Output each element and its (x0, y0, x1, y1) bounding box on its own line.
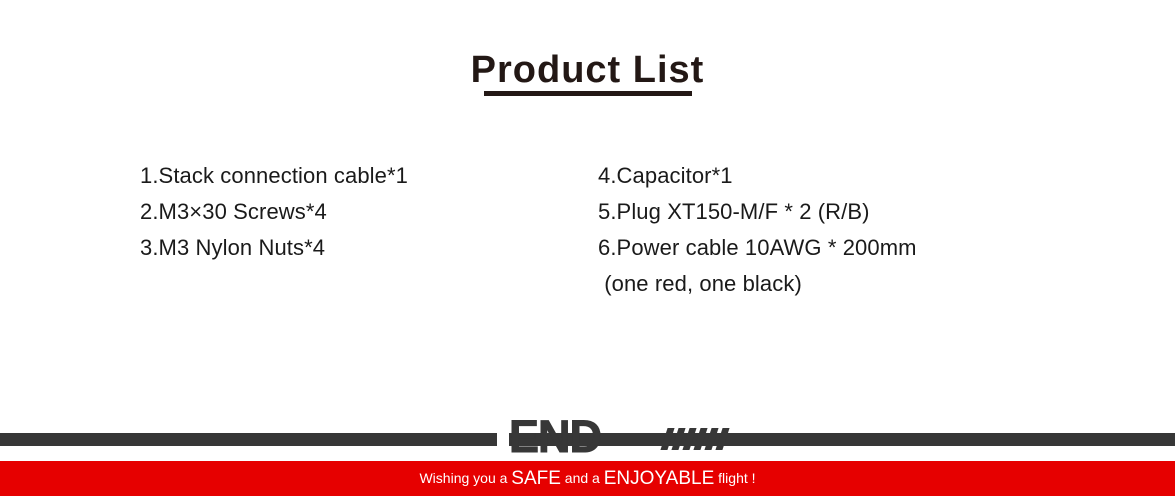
end-wordmark: END (509, 416, 601, 458)
page-title: Product List (469, 48, 707, 92)
product-list-left-column: 1.Stack connection cable*1 2.M3×30 Screw… (140, 158, 408, 266)
list-item: 5.Plug XT150-M/F * 2 (R/B) (598, 194, 917, 230)
list-item: 2.M3×30 Screws*4 (140, 194, 408, 230)
slogan-emphasis-safe: SAFE (511, 461, 561, 496)
slogan-part-2: and a (561, 461, 604, 496)
slogan-banner: Wishing you a SAFE and a ENJOYABLE fligh… (0, 461, 1175, 496)
slide-canvas: Product List 1.Stack connection cable*1 … (0, 0, 1175, 496)
page-title-container: Product List (0, 48, 1175, 92)
end-bar-notch (497, 431, 509, 448)
slogan-part-1: Wishing you a (419, 461, 511, 496)
list-item: (one red, one black) (598, 266, 917, 302)
slogan-part-3: flight ! (714, 461, 755, 496)
product-list: 1.Stack connection cable*1 2.M3×30 Screw… (0, 158, 1175, 338)
product-list-right-column: 4.Capacitor*1 5.Plug XT150-M/F * 2 (R/B)… (598, 158, 917, 302)
list-item: 6.Power cable 10AWG * 200mm (598, 230, 917, 266)
slogan-text-container: Wishing you a SAFE and a ENJOYABLE fligh… (0, 461, 1175, 496)
slogan-emphasis-enjoyable: ENJOYABLE (604, 461, 715, 496)
list-item: 1.Stack connection cable*1 (140, 158, 408, 194)
list-item: 3.M3 Nylon Nuts*4 (140, 230, 408, 266)
list-item: 4.Capacitor*1 (598, 158, 917, 194)
speed-lines-icon (664, 428, 726, 450)
title-underline (484, 91, 692, 96)
